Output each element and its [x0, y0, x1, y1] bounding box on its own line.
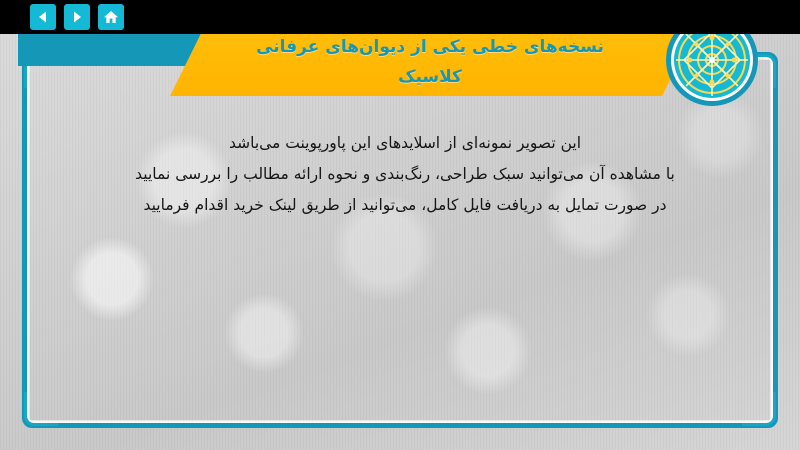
slide-border-frame — [22, 52, 778, 428]
slide-canvas: کامل مطالعه تطبیقی نشانه‌گذاری‌های نسخه‌… — [0, 0, 800, 450]
corner-ornament-bottom-left — [24, 392, 58, 426]
corner-ornament-bottom-right — [742, 392, 776, 426]
slide-inner-border — [27, 57, 773, 423]
previous-slide-button[interactable] — [30, 4, 56, 30]
body-line-2: با مشاهده آن می‌توانید سبک طراحی، رنگ‌بن… — [60, 159, 750, 190]
viewer-toolbar — [0, 0, 800, 34]
home-icon — [103, 9, 119, 25]
presentation-viewer: کامل مطالعه تطبیقی نشانه‌گذاری‌های نسخه‌… — [0, 0, 800, 450]
slide-title-line-2: نسخه‌های خطی یکی از دیوان‌های عرفانی — [160, 32, 700, 62]
body-line-1: این تصویر نمونه‌ای از اسلایدهای این پاور… — [60, 128, 750, 159]
home-button[interactable] — [98, 4, 124, 30]
next-slide-button[interactable] — [64, 4, 90, 30]
chevron-left-icon — [36, 10, 50, 24]
slide-body-text: این تصویر نمونه‌ای از اسلایدهای این پاور… — [60, 128, 750, 221]
slide-title-line-3: کلاسیک — [160, 62, 700, 92]
body-line-3: در صورت تمایل به دریافت فایل کامل، می‌تو… — [60, 190, 750, 221]
chevron-right-icon — [70, 10, 84, 24]
